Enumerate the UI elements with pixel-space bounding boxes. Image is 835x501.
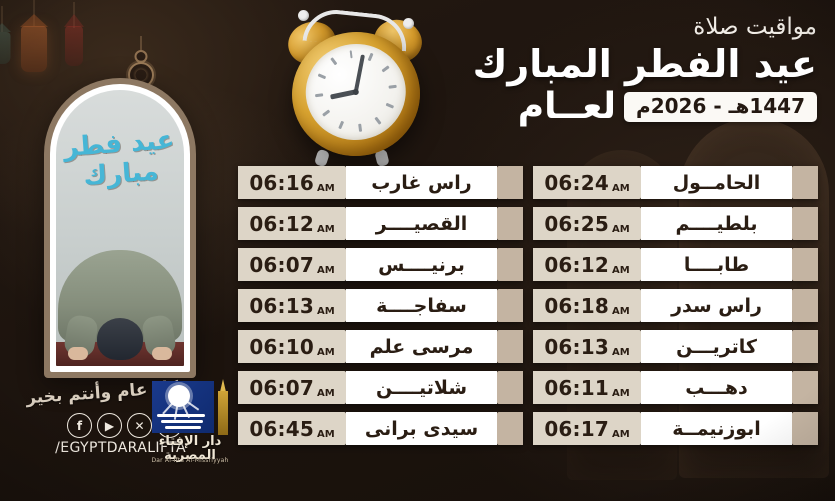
eid-calligraphy-text: عيد فطر مبارك bbox=[56, 126, 184, 195]
prayer-times-column-left: راس غارب06:16AMالقصيــــر06:12AMبرنيــــ… bbox=[238, 166, 523, 445]
city-name: القصيــــر bbox=[346, 207, 497, 240]
year-badge: 1447هـ - 2026م bbox=[624, 92, 817, 122]
time-hhmm: 06:11 bbox=[544, 376, 609, 400]
clock-tick bbox=[317, 74, 325, 79]
time-hhmm: 06:07 bbox=[249, 376, 314, 400]
time-period: AM bbox=[317, 265, 335, 281]
city-name: سيدى برانى bbox=[346, 412, 497, 445]
row-end-cap bbox=[792, 166, 818, 199]
clock-knob-left bbox=[298, 10, 309, 21]
time-hhmm: 06:16 bbox=[249, 171, 314, 195]
prayer-times-column-right: الحامــول06:24AMبلطيــــم06:25AMطابــــا… bbox=[533, 166, 818, 445]
dar-al-ifta-logo: دار الإفتاء المصرية Dar Al-Ifta Al-Missr… bbox=[150, 381, 238, 467]
row-end-cap bbox=[497, 248, 523, 281]
clock-face bbox=[300, 38, 411, 145]
prayer-time-value: 06:07AM bbox=[238, 371, 346, 404]
time-hhmm: 06:25 bbox=[544, 212, 609, 236]
logo-minaret-icon bbox=[212, 379, 234, 437]
prayer-time-value: 06:16AM bbox=[238, 166, 346, 199]
row-end-cap bbox=[792, 412, 818, 445]
prayer-time-value: 06:45AM bbox=[238, 412, 346, 445]
prayer-time-row: راس غارب06:16AM bbox=[238, 166, 523, 199]
logo-wave bbox=[157, 414, 205, 417]
time-hhmm: 06:12 bbox=[544, 253, 609, 277]
city-name: طابــــا bbox=[641, 248, 792, 281]
time-period: AM bbox=[317, 347, 335, 363]
prayer-time-row: راس سدر06:18AM bbox=[533, 289, 818, 322]
header-word-for-year: لعــام bbox=[518, 89, 616, 125]
prayer-time-row: القصيــــر06:12AM bbox=[238, 207, 523, 240]
footer-brand-block: كل عام وأنتم بخير f▶✕◎ /EGYPTDARALIFTA د… bbox=[34, 383, 240, 471]
facebook-icon[interactable]: f bbox=[67, 413, 92, 438]
time-hhmm: 06:10 bbox=[249, 335, 314, 359]
city-name: راس سدر bbox=[641, 289, 792, 322]
row-end-cap bbox=[792, 371, 818, 404]
row-end-cap bbox=[792, 248, 818, 281]
time-period: AM bbox=[317, 224, 335, 240]
prayer-time-value: 06:25AM bbox=[533, 207, 641, 240]
clock-minute-hand bbox=[354, 54, 365, 92]
row-end-cap bbox=[497, 330, 523, 363]
prayer-time-row: مرسى علم06:10AM bbox=[238, 330, 523, 363]
lantern-body bbox=[0, 32, 11, 64]
prayer-time-row: سيدى برانى06:45AM bbox=[238, 412, 523, 445]
prayer-time-row: دهـــب06:11AM bbox=[533, 371, 818, 404]
prayer-time-value: 06:10AM bbox=[238, 330, 346, 363]
city-name: شلاتيــــن bbox=[346, 371, 497, 404]
row-end-cap bbox=[497, 371, 523, 404]
prayer-time-row: ابوزنيمــة06:17AM bbox=[533, 412, 818, 445]
prayer-time-row: الحامــول06:24AM bbox=[533, 166, 818, 199]
praying-person-hand-left bbox=[68, 347, 88, 360]
arch-photo-frame: عيد فطر مبارك bbox=[44, 78, 196, 378]
prayer-time-value: 06:24AM bbox=[533, 166, 641, 199]
time-period: AM bbox=[612, 388, 630, 404]
praying-person-hand-right bbox=[152, 347, 172, 360]
city-name: بلطيــــم bbox=[641, 207, 792, 240]
prayer-time-value: 06:07AM bbox=[238, 248, 346, 281]
row-end-cap bbox=[497, 289, 523, 322]
city-name: راس غارب bbox=[346, 166, 497, 199]
city-name: مرسى علم bbox=[346, 330, 497, 363]
logo-emblem bbox=[152, 381, 214, 433]
time-hhmm: 06:17 bbox=[544, 417, 609, 441]
time-hhmm: 06:24 bbox=[544, 171, 609, 195]
city-name: كاتريـــن bbox=[641, 330, 792, 363]
time-hhmm: 06:45 bbox=[249, 417, 314, 441]
x-twitter-icon[interactable]: ✕ bbox=[127, 413, 152, 438]
clock-tick bbox=[322, 110, 330, 117]
prayer-time-row: طابــــا06:12AM bbox=[533, 248, 818, 281]
alarm-clock-icon bbox=[282, 8, 428, 166]
time-hhmm: 06:18 bbox=[544, 294, 609, 318]
time-hhmm: 06:07 bbox=[249, 253, 314, 277]
clock-tick bbox=[374, 117, 381, 125]
city-name: سفاجــــة bbox=[346, 289, 497, 322]
time-hhmm: 06:13 bbox=[249, 294, 314, 318]
clock-foot-left bbox=[314, 149, 330, 168]
prayer-time-value: 06:12AM bbox=[238, 207, 346, 240]
row-end-cap bbox=[792, 330, 818, 363]
time-period: AM bbox=[317, 388, 335, 404]
time-period: AM bbox=[317, 306, 335, 322]
page-title: عيد الفطر المبارك bbox=[467, 44, 817, 86]
prayer-time-value: 06:12AM bbox=[533, 248, 641, 281]
lantern-cap bbox=[0, 23, 11, 32]
time-period: AM bbox=[317, 183, 335, 199]
youtube-icon[interactable]: ▶ bbox=[97, 413, 122, 438]
lantern-body bbox=[21, 26, 47, 72]
time-period: AM bbox=[317, 429, 335, 445]
clock-tick bbox=[349, 50, 352, 58]
logo-latin-name: Dar Al-Ifta Al-Missriyyah bbox=[150, 457, 230, 464]
clock-center-pin bbox=[352, 89, 359, 96]
row-end-cap bbox=[497, 166, 523, 199]
clock-tick bbox=[338, 121, 343, 129]
time-hhmm: 06:12 bbox=[249, 212, 314, 236]
row-end-cap bbox=[497, 412, 523, 445]
time-period: AM bbox=[612, 224, 630, 240]
row-end-cap bbox=[497, 207, 523, 240]
clock-tick bbox=[388, 85, 396, 88]
row-end-cap bbox=[792, 289, 818, 322]
praying-person-head bbox=[97, 318, 143, 360]
header-line-prayer-times: مواقيت صلاة bbox=[467, 14, 817, 42]
clock-tick bbox=[315, 94, 323, 97]
city-name: برنيــــس bbox=[346, 248, 497, 281]
clock-tick bbox=[330, 58, 337, 66]
clock-tick bbox=[386, 103, 394, 108]
time-period: AM bbox=[612, 306, 630, 322]
city-name: ابوزنيمــة bbox=[641, 412, 792, 445]
clock-tick bbox=[381, 65, 389, 72]
header-year-row: 1447هـ - 2026م لعــام bbox=[467, 89, 817, 125]
time-period: AM bbox=[612, 265, 630, 281]
row-end-cap bbox=[792, 207, 818, 240]
prayer-time-value: 06:11AM bbox=[533, 371, 641, 404]
prayer-time-row: برنيــــس06:07AM bbox=[238, 248, 523, 281]
time-period: AM bbox=[612, 429, 630, 445]
prayer-time-value: 06:17AM bbox=[533, 412, 641, 445]
logo-wave bbox=[161, 420, 203, 423]
city-name: دهـــب bbox=[641, 371, 792, 404]
poster-header: مواقيت صلاة عيد الفطر المبارك 1447هـ - 2… bbox=[467, 14, 817, 125]
time-period: AM bbox=[612, 347, 630, 363]
arch-frame-inner: عيد فطر مبارك bbox=[50, 84, 190, 372]
prayer-time-row: سفاجــــة06:13AM bbox=[238, 289, 523, 322]
prostration-photo: عيد فطر مبارك bbox=[56, 90, 184, 366]
lantern-body bbox=[65, 26, 83, 66]
time-period: AM bbox=[612, 183, 630, 199]
minaret-shaft bbox=[218, 391, 228, 435]
eid-prayer-times-poster: عيد فطر مبارك bbox=[0, 0, 835, 501]
prayer-time-value: 06:13AM bbox=[533, 330, 641, 363]
clock-tick bbox=[358, 124, 361, 132]
prayer-time-value: 06:18AM bbox=[533, 289, 641, 322]
prayer-time-row: كاتريـــن06:13AM bbox=[533, 330, 818, 363]
city-name: الحامــول bbox=[641, 166, 792, 199]
clock-knob-right bbox=[403, 18, 414, 29]
prayer-time-row: بلطيــــم06:25AM bbox=[533, 207, 818, 240]
time-hhmm: 06:13 bbox=[544, 335, 609, 359]
logo-wave bbox=[165, 426, 201, 429]
prayer-time-value: 06:13AM bbox=[238, 289, 346, 322]
prayer-times-table: الحامــول06:24AMبلطيــــم06:25AMطابــــا… bbox=[238, 166, 818, 445]
prayer-time-row: شلاتيــــن06:07AM bbox=[238, 371, 523, 404]
clock-tick bbox=[367, 53, 372, 61]
